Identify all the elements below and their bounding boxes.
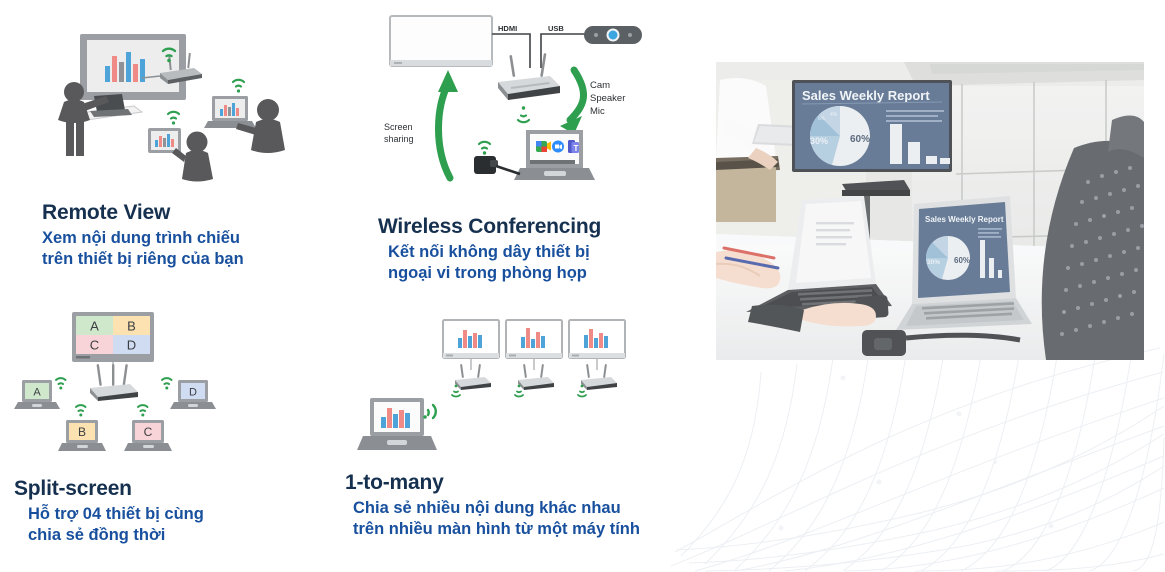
feature-title: 1-to-many bbox=[345, 471, 675, 495]
usb-label: USB bbox=[548, 24, 564, 33]
svg-text:T: T bbox=[574, 144, 579, 153]
feature-split-screen: A B C D A bbox=[14, 302, 324, 546]
remote-view-illustration bbox=[42, 18, 342, 193]
feature-title: Remote View bbox=[42, 201, 342, 225]
laptop-label-a: A bbox=[33, 387, 41, 399]
photo-alt-text: meeting-room-photo bbox=[0, 0, 1, 1]
meeting-room-photo: Sales Weekly Report 60% 30% 6% 4% bbox=[716, 62, 1144, 360]
laptop-label-d: D bbox=[189, 387, 197, 399]
feature-wireless-conferencing: HDMI USB bbox=[378, 8, 678, 284]
feature-description: Xem nội dung trình chiếu trên thiết bị r… bbox=[42, 228, 342, 270]
feature-remote-view: Remote View Xem nội dung trình chiếu trê… bbox=[42, 18, 342, 270]
quadrant-label-a: A bbox=[90, 319, 99, 334]
one-to-many-illustration bbox=[345, 310, 675, 465]
feature-title: Wireless Conferencing bbox=[378, 215, 678, 239]
feature-description: Chia sẻ nhiều nội dung khác nhau trên nh… bbox=[345, 498, 675, 540]
svg-text:Speaker: Speaker bbox=[590, 93, 625, 104]
feature-one-to-many: 1-to-many Chia sẻ nhiều nội dung khác nh… bbox=[345, 310, 675, 540]
quadrant-label-c: C bbox=[90, 338, 99, 353]
display-3 bbox=[569, 320, 625, 397]
feature-description: Hỗ trợ 04 thiết bị cùng chia sẻ đồng thờ… bbox=[14, 504, 324, 546]
display-2 bbox=[506, 320, 562, 397]
display-1 bbox=[443, 320, 499, 397]
split-screen-illustration: A B C D A bbox=[14, 302, 324, 467]
feature-title: Split-screen bbox=[14, 477, 324, 501]
svg-text:Mic: Mic bbox=[590, 106, 605, 117]
laptop-label-c: C bbox=[144, 425, 153, 439]
laptop-label-b: B bbox=[78, 425, 86, 439]
wireless-conferencing-illustration: HDMI USB bbox=[378, 8, 678, 203]
peripherals-label: Cam bbox=[590, 80, 610, 91]
feature-description: Kết nối không dây thiết bị ngoại vi tron… bbox=[378, 242, 678, 284]
decorative-mesh-pattern bbox=[665, 342, 1165, 572]
app-icons: T bbox=[536, 140, 579, 153]
svg-text:sharing: sharing bbox=[384, 134, 414, 144]
hdmi-label: HDMI bbox=[498, 24, 517, 33]
quadrant-label-b: B bbox=[127, 319, 136, 334]
quadrant-label-d: D bbox=[127, 338, 136, 353]
screen-sharing-label: Screen bbox=[384, 122, 413, 132]
slide-root: Remote View Xem nội dung trình chiếu trê… bbox=[0, 0, 1165, 572]
